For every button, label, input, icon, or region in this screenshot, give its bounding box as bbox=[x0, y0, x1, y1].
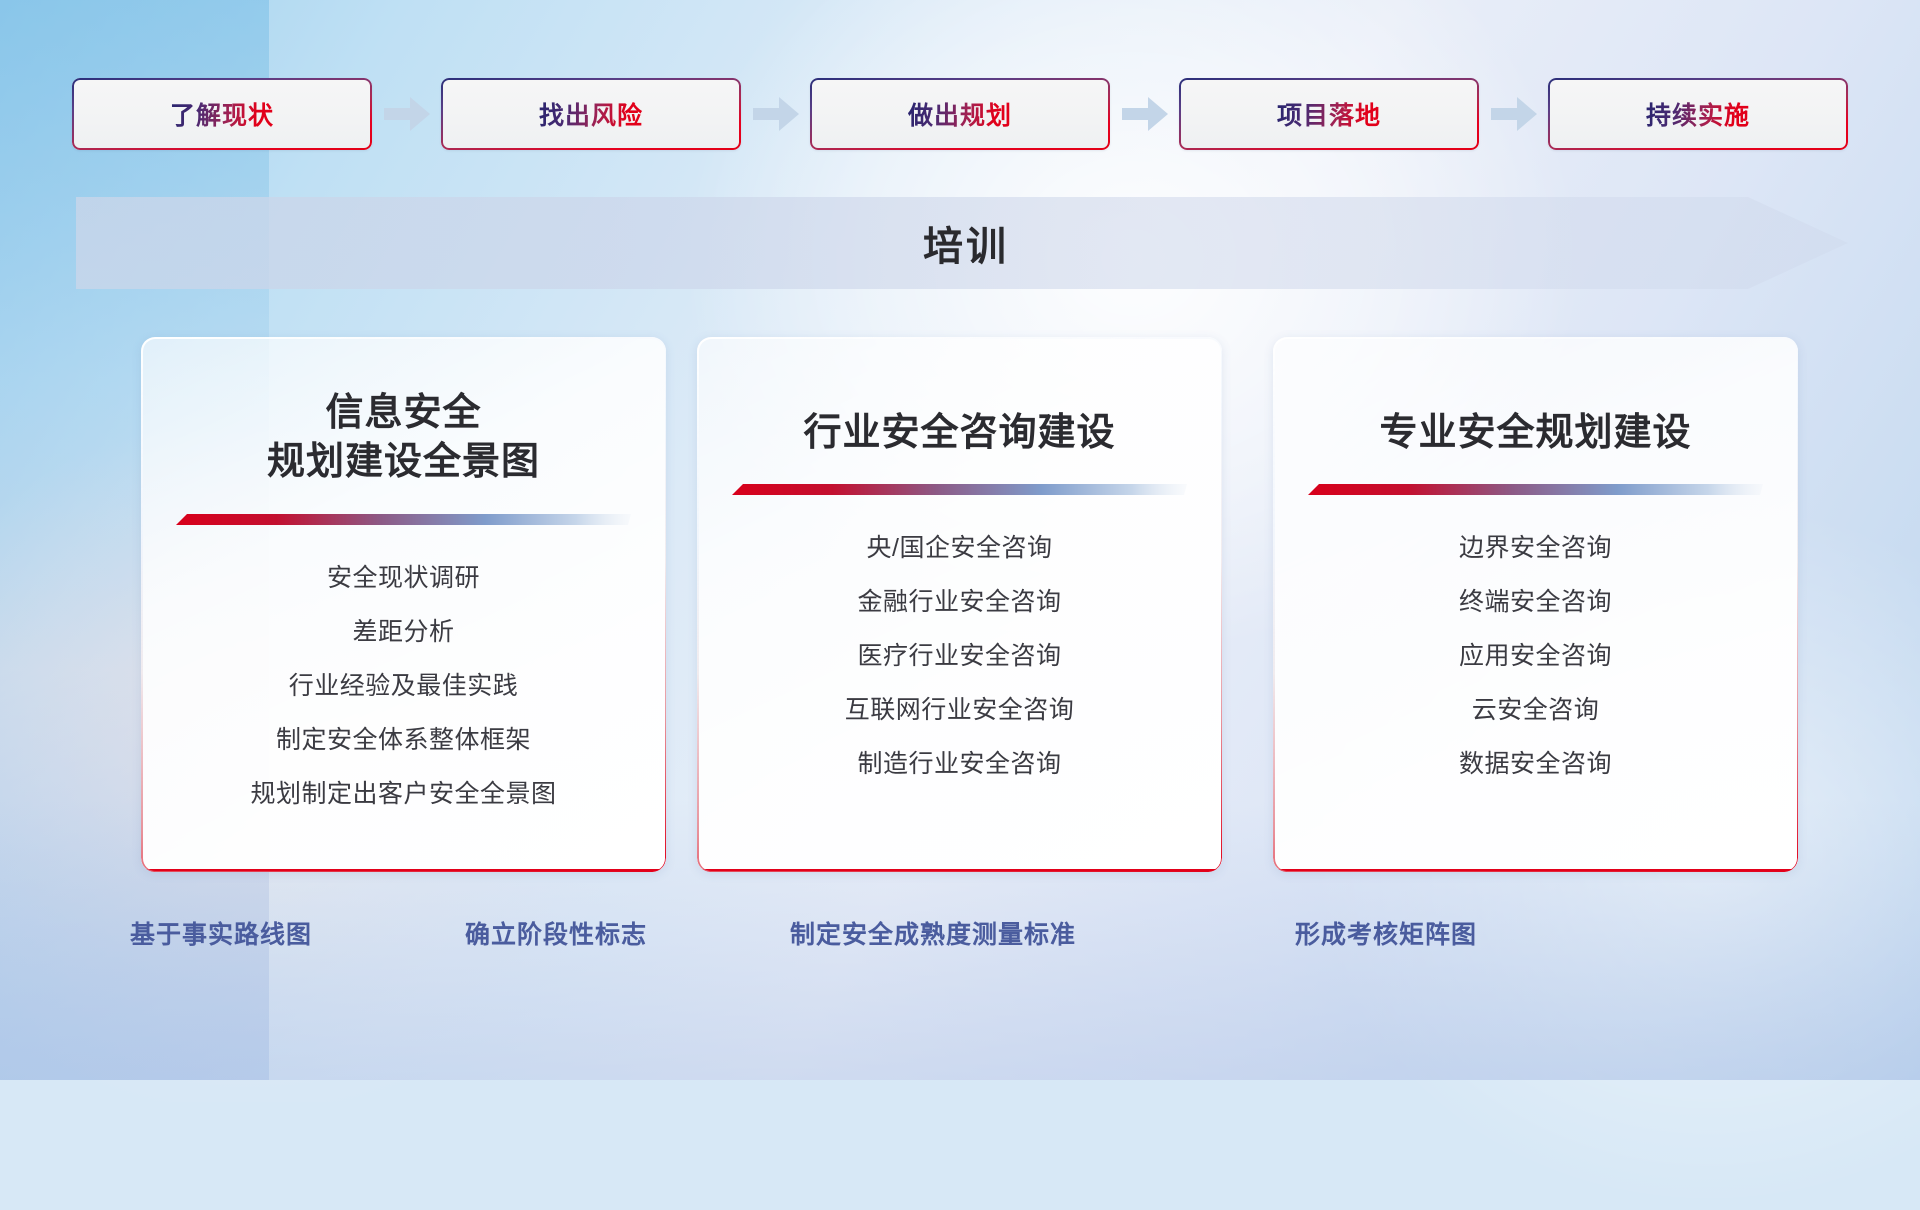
list-item: 制造行业安全咨询 bbox=[857, 744, 1061, 780]
process-steps-row: 了解现状 找出风险 做出规划 项目落地 持续实施 bbox=[72, 78, 1848, 150]
bottom-labels-row: 基于事实路线图 确立阶段性标志 制定安全成熟度测量标准 形成考核矩阵图 bbox=[0, 915, 1920, 975]
list-item: 边界安全咨询 bbox=[1459, 528, 1612, 564]
step-box-5[interactable]: 持续实施 bbox=[1548, 78, 1848, 150]
step-box-2[interactable]: 找出风险 bbox=[441, 78, 741, 150]
list-item: 医疗行业安全咨询 bbox=[857, 636, 1061, 672]
list-item: 终端安全咨询 bbox=[1459, 582, 1612, 618]
step-box-1[interactable]: 了解现状 bbox=[72, 78, 372, 150]
card-title: 专业安全规划建设 bbox=[1379, 409, 1691, 458]
list-item: 规划制定出客户安全全景图 bbox=[250, 774, 556, 810]
card-industry-security-consulting[interactable]: 行业安全咨询建设 bbox=[697, 337, 1222, 872]
card-content: 行业安全咨询建设 bbox=[697, 337, 1222, 872]
step-label: 持续实施 bbox=[1646, 96, 1750, 132]
bottom-label-roadmap: 基于事实路线图 bbox=[130, 915, 312, 951]
training-banner: 培训 bbox=[76, 197, 1848, 289]
arrow-right-icon bbox=[1110, 78, 1179, 150]
arrow-right-icon bbox=[741, 78, 810, 150]
bottom-label-maturity-standard: 制定安全成熟度测量标准 bbox=[790, 915, 1076, 951]
card-bottom-accent bbox=[1273, 869, 1798, 872]
card-title: 行业安全咨询建设 bbox=[803, 409, 1115, 458]
bottom-label-milestones: 确立阶段性标志 bbox=[465, 915, 647, 951]
card-divider bbox=[176, 514, 631, 528]
card-content: 专业安全规划建设 bbox=[1273, 337, 1798, 872]
list-item: 数据安全咨询 bbox=[1459, 744, 1612, 780]
list-item: 应用安全咨询 bbox=[1459, 636, 1612, 672]
list-item: 制定安全体系整体框架 bbox=[276, 720, 531, 756]
card-information-security-blueprint[interactable]: 信息安全 规划建设全景图 bbox=[141, 337, 666, 872]
card-bottom-accent bbox=[141, 869, 666, 872]
card-list: 边界安全咨询 终端安全咨询 应用安全咨询 云安全咨询 数据安全咨询 bbox=[1459, 528, 1612, 780]
arrow-right-icon bbox=[1479, 78, 1548, 150]
list-item: 差距分析 bbox=[352, 612, 454, 648]
card-professional-security-planning[interactable]: 专业安全规划建设 bbox=[1273, 337, 1798, 872]
training-banner-label-wrap: 培训 bbox=[76, 197, 1848, 289]
step-label: 做出规划 bbox=[908, 96, 1012, 132]
step-label: 了解现状 bbox=[170, 96, 274, 132]
step-box-4[interactable]: 项目落地 bbox=[1179, 78, 1479, 150]
list-item: 云安全咨询 bbox=[1472, 690, 1600, 726]
card-content: 信息安全 规划建设全景图 bbox=[141, 337, 666, 872]
step-label: 项目落地 bbox=[1277, 96, 1381, 132]
card-divider bbox=[1308, 484, 1763, 498]
step-box-3[interactable]: 做出规划 bbox=[810, 78, 1110, 150]
list-item: 金融行业安全咨询 bbox=[857, 582, 1061, 618]
training-banner-label: 培训 bbox=[923, 214, 1009, 272]
arrow-right-icon bbox=[372, 78, 441, 150]
list-item: 安全现状调研 bbox=[327, 558, 480, 594]
bottom-label-assessment-matrix: 形成考核矩阵图 bbox=[1295, 915, 1477, 951]
card-list: 央/国企安全咨询 金融行业安全咨询 医疗行业安全咨询 互联网行业安全咨询 制造行… bbox=[845, 528, 1075, 780]
list-item: 央/国企安全咨询 bbox=[867, 528, 1053, 564]
list-item: 行业经验及最佳实践 bbox=[289, 666, 519, 702]
card-divider bbox=[732, 484, 1187, 498]
card-title: 信息安全 规划建设全景图 bbox=[267, 389, 540, 488]
list-item: 互联网行业安全咨询 bbox=[845, 690, 1075, 726]
step-label: 找出风险 bbox=[539, 96, 643, 132]
card-list: 安全现状调研 差距分析 行业经验及最佳实践 制定安全体系整体框架 规划制定出客户… bbox=[250, 558, 556, 810]
card-bottom-accent bbox=[697, 869, 1222, 872]
cards-row: 信息安全 规划建设全景图 bbox=[0, 337, 1920, 872]
